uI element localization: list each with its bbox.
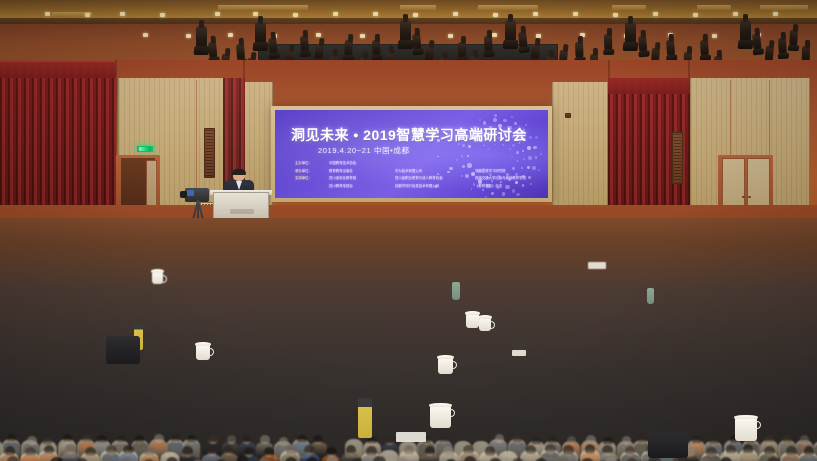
- ceiling-downlight: [228, 33, 233, 37]
- audience-member-head: [563, 445, 574, 456]
- curtain-right-valance: [608, 78, 690, 94]
- dot-particle: [527, 146, 531, 150]
- stage-light: [625, 22, 636, 46]
- ceiling-light-slot: [478, 5, 538, 10]
- ceiling-light-slot: [400, 5, 436, 10]
- ceiling-downlight: [712, 34, 717, 38]
- audience-member-head: [764, 435, 774, 444]
- audience-member-head: [135, 435, 145, 444]
- stage-light: [196, 26, 207, 50]
- organizer-label: 支持单位：: [295, 175, 329, 183]
- ceiling-downlight: [453, 12, 458, 16]
- wall-speaker-left: [204, 128, 215, 178]
- audience-member-head: [605, 457, 617, 461]
- audience-member-head: [313, 435, 323, 444]
- ceiling-downlight: [143, 33, 148, 37]
- audience-member-head: [800, 435, 810, 444]
- ceiling-downlight: [85, 13, 90, 17]
- audience-member-head: [804, 446, 815, 457]
- dot-particle: [522, 150, 524, 152]
- dot-particle: [467, 155, 469, 157]
- stage-light: [268, 38, 278, 56]
- water-bottle: [647, 288, 654, 304]
- organizer-value: 教育教育出版社: [329, 168, 395, 176]
- ceiling-downlight: [316, 33, 321, 37]
- stage-light: [255, 22, 266, 46]
- audience-member-head: [709, 436, 719, 445]
- audience-member-head: [366, 446, 377, 457]
- ceiling-downlight: [573, 12, 578, 16]
- teacup: [735, 418, 757, 441]
- audience-member-head: [144, 447, 155, 458]
- speaker-hair: [232, 169, 246, 175]
- dot-particle: [479, 119, 481, 121]
- organizer-value: 中国教育技术协会: [329, 160, 395, 168]
- ceiling-downlight: [360, 34, 365, 38]
- stage-light: [344, 40, 353, 57]
- dot-particle: [516, 193, 519, 196]
- organizer-value: 西南交通大学出版与继续教育学院: [475, 175, 548, 183]
- ceiling-downlight: [653, 12, 658, 16]
- teacup: [430, 406, 451, 428]
- wall-sensor-center: [565, 113, 571, 118]
- audience-member-head: [182, 446, 193, 457]
- organizer-value: 成都市知行信息技术有限公司: [395, 183, 475, 191]
- audience-member-head: [404, 445, 415, 456]
- audience-member-head: [82, 434, 92, 443]
- audience-area: [0, 218, 817, 461]
- dot-particle: [437, 156, 439, 158]
- dot-particle: [533, 146, 537, 150]
- dot-particle: [516, 151, 519, 154]
- ceiling-downlight: [120, 12, 125, 16]
- ceiling-downlight: [773, 12, 778, 16]
- audience-member-head: [764, 446, 775, 457]
- dot-particle: [509, 148, 511, 150]
- dot-particle: [535, 156, 538, 159]
- camera-viewfinder: [187, 190, 194, 196]
- dot-particle: [487, 148, 489, 150]
- dot-particle: [494, 114, 497, 117]
- dot-particle: [468, 145, 471, 148]
- stage-screen: 洞见未来 • 2019智慧学习高端研讨会 2019.4.20~21 中国•成都 …: [275, 110, 548, 198]
- audience-member-head: [706, 447, 717, 458]
- conference-hall-photo: 洞见未来 • 2019智慧学习高端研讨会 2019.4.20~21 中国•成都 …: [0, 0, 817, 461]
- organizer-row: 四川教育电视台成都市知行信息技术有限公司《教育学习》杂志《现代远程教育研究》期刊: [295, 183, 548, 191]
- audience-member-head: [526, 445, 537, 456]
- audience-member-head: [27, 436, 37, 445]
- audience-member-head: [304, 445, 315, 456]
- ceiling-downlight: [293, 13, 298, 17]
- audience-member-head: [25, 447, 36, 458]
- ceiling-downlight: [253, 12, 258, 16]
- ceiling-downlight: [733, 12, 738, 16]
- audience-member-head: [236, 456, 248, 461]
- dot-particle: [511, 116, 513, 118]
- stage-light: [372, 40, 381, 57]
- audience-member-head: [187, 435, 197, 444]
- dot-particle: [461, 155, 463, 157]
- audience-member-head: [783, 435, 793, 444]
- audience-member-head: [557, 457, 569, 461]
- stage-light: [412, 34, 421, 52]
- ceiling-downlight: [448, 34, 453, 38]
- audience-member-head: [106, 445, 117, 456]
- audience-member-head: [567, 436, 577, 445]
- audience-member-head: [385, 436, 395, 445]
- audience-member-head: [208, 435, 218, 444]
- door-handle-right-b[interactable]: [748, 196, 751, 198]
- stage-light: [789, 30, 798, 47]
- ceiling-downlight: [493, 13, 498, 17]
- audience-member-head: [286, 445, 297, 456]
- stage-light: [778, 38, 787, 55]
- dot-particle: [502, 192, 506, 196]
- audience-member-head: [602, 445, 613, 456]
- thermos-flask: [358, 398, 372, 438]
- stage-light: [458, 42, 466, 59]
- ceiling-light-slot: [218, 5, 308, 10]
- ceiling-downlight: [693, 13, 698, 17]
- ceiling-downlight: [333, 12, 338, 16]
- wall-speaker-left-grille: [206, 130, 213, 176]
- audience-member-head: [85, 447, 96, 458]
- dot-particle: [485, 196, 488, 199]
- stage-light: [484, 36, 493, 53]
- dot-particle: [493, 118, 497, 122]
- organizer-value: 四川省职业教育与成人教育协会: [395, 175, 475, 183]
- curtain-left-valance: [0, 62, 116, 78]
- stage-light: [700, 40, 709, 57]
- audience-member-head: [443, 446, 454, 457]
- audience-member-head: [439, 435, 449, 444]
- audience-member-head: [123, 445, 134, 456]
- audience-member-head: [786, 446, 797, 457]
- audience-member-head: [743, 444, 754, 455]
- wall-panel-left-seam: [196, 80, 197, 190]
- dot-particle: [540, 153, 542, 155]
- organizer-row: 承办单位：教育教育出版社华为技术有限公司华南智慧学习研究院: [295, 168, 548, 176]
- audience-member-head: [154, 434, 164, 443]
- ceiling-downlight: [533, 12, 538, 16]
- audience-member-head: [373, 456, 385, 461]
- wall-sensor-center-grille: [567, 115, 569, 116]
- audience-member-head: [297, 435, 307, 444]
- paper-handout: [588, 262, 606, 269]
- attendee-bag: [648, 432, 688, 458]
- audience-member-head: [65, 444, 76, 455]
- audience-member-head: [545, 444, 556, 455]
- water-bottle: [452, 282, 460, 300]
- audience-member-head: [279, 437, 289, 446]
- stage-light: [531, 44, 540, 62]
- ceiling-downlight: [413, 13, 418, 17]
- audience-member-head: [485, 446, 496, 457]
- stage-light: [300, 36, 309, 53]
- organizer-credits: 主办单位：中国教育技术协会承办单位：教育教育出版社华为技术有限公司华南智慧学习研…: [295, 160, 548, 190]
- teacup: [438, 358, 453, 374]
- teacup: [196, 345, 210, 360]
- paper-handout: [512, 350, 526, 356]
- organizer-value: 《教育学习》杂志: [475, 183, 548, 191]
- organizer-row: 支持单位：四川省电化教育馆四川省职业教育与成人教育协会西南交通大学出版与继续教育…: [295, 175, 548, 183]
- audience-member-head: [44, 445, 55, 456]
- audience-member-head: [7, 434, 17, 443]
- dot-particle: [511, 156, 513, 158]
- event-subtitle: 2019.4.20~21 中国•成都: [318, 145, 410, 156]
- ceiling-downlight: [160, 13, 165, 17]
- stage-light: [740, 20, 751, 44]
- ceiling-downlight: [45, 12, 50, 16]
- ceiling-light-slot: [760, 5, 808, 10]
- organizer-value: 四川教育电视台: [329, 183, 395, 191]
- dot-particle: [529, 136, 532, 139]
- audience-member-head: [207, 445, 218, 456]
- audience-member-head: [227, 435, 237, 444]
- ceiling-downlight: [373, 12, 378, 16]
- dot-particle: [535, 136, 538, 139]
- audience-member-head: [622, 436, 632, 445]
- stage-light: [575, 42, 584, 59]
- wall-speaker-right-grille: [674, 134, 681, 182]
- stage-light: [400, 20, 411, 44]
- teacup: [152, 272, 163, 284]
- audience-member-head: [692, 436, 702, 445]
- stage-light: [208, 42, 217, 60]
- ceiling-downlight: [215, 12, 220, 16]
- ceiling-light-slot: [697, 5, 731, 10]
- audience-member-head: [463, 445, 474, 456]
- exit-sign: [136, 145, 154, 153]
- audience-member-head: [495, 434, 505, 443]
- podium-plaque: [230, 209, 254, 214]
- ceiling-light-slot: [612, 5, 646, 10]
- audience-member-head: [171, 434, 181, 443]
- wall-speaker-right: [672, 132, 683, 184]
- door-handle-right-a[interactable]: [742, 196, 745, 198]
- wall-panel-center-right: [552, 82, 608, 210]
- audience-member-head: [264, 447, 275, 458]
- paper-handout: [396, 432, 426, 442]
- stage-light: [505, 20, 516, 44]
- stage-light: [518, 32, 528, 50]
- teacup: [479, 318, 491, 331]
- stage-light: [604, 34, 612, 51]
- audience-member-head: [513, 435, 523, 444]
- event-title: 洞见未来 • 2019智慧学习高端研讨会: [291, 125, 527, 145]
- dot-particle: [503, 119, 506, 122]
- attendee-bag: [106, 336, 140, 364]
- organizer-label: 承办单位：: [295, 168, 329, 176]
- organizer-row: 主办单位：中国教育技术协会: [295, 160, 548, 168]
- stage-light: [236, 44, 245, 62]
- ceiling-downlight: [613, 13, 618, 17]
- stage-light: [752, 34, 762, 52]
- audience-member-head: [260, 435, 270, 444]
- stage-light: [638, 36, 647, 54]
- organizer-value: 华南智慧学习研究院: [475, 168, 548, 176]
- audience-member-head: [585, 444, 596, 455]
- audience-member-head: [637, 435, 647, 444]
- stage-screen-frame: 洞见未来 • 2019智慧学习高端研讨会 2019.4.20~21 中国•成都 …: [271, 106, 552, 202]
- audience-member-head: [97, 435, 107, 444]
- ceiling-downlight: [186, 34, 191, 38]
- organizer-value: 华为技术有限公司: [395, 168, 475, 176]
- organizer-value: 四川省电化教育馆: [329, 175, 395, 183]
- organizer-label: [295, 183, 329, 191]
- dot-particle: [491, 192, 494, 195]
- stage-light: [314, 44, 324, 62]
- stage-light: [666, 40, 675, 58]
- organizer-label: 主办单位：: [295, 160, 329, 168]
- ceiling-downlight: [492, 33, 497, 37]
